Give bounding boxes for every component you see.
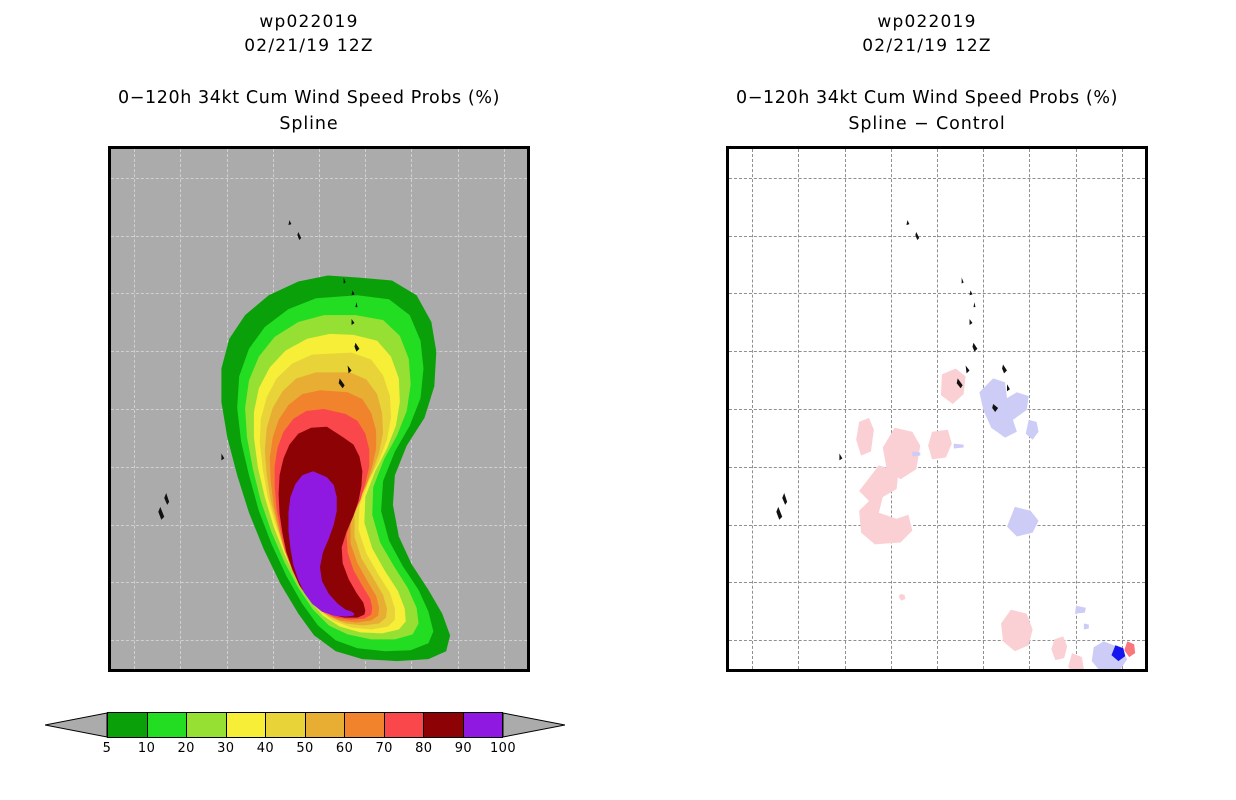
colorbar-segment bbox=[385, 713, 425, 737]
colorbar-tick-label: 5 bbox=[103, 741, 112, 756]
colorbar-left-ticklabels: 5102030405060708090100 bbox=[45, 741, 565, 763]
colorbar-segment bbox=[108, 713, 148, 737]
y-tick-mark bbox=[108, 581, 111, 583]
y-tick-mark bbox=[108, 524, 111, 526]
y-tick-mark bbox=[108, 408, 111, 410]
y-tick-mark bbox=[726, 177, 729, 179]
colorbar-left-under-cap bbox=[45, 712, 107, 738]
panel-spline: wp022019 02/21/19 12Z 0−120h 34kt Cum Wi… bbox=[0, 0, 618, 800]
x-tick-mark bbox=[134, 669, 136, 672]
y-tick-mark bbox=[108, 235, 111, 237]
x-tick-mark bbox=[891, 669, 893, 672]
colorbar-tick-label: 20 bbox=[178, 741, 195, 756]
y-tick-mark bbox=[108, 177, 111, 179]
colorbar-left-segments bbox=[107, 712, 503, 738]
colorbar-segment bbox=[227, 713, 267, 737]
y-tick-mark bbox=[108, 350, 111, 352]
axis-right: 132E135E138E141E144E147E150E153E156E30N2… bbox=[729, 149, 1145, 669]
x-tick-mark bbox=[937, 669, 939, 672]
y-tick-mark bbox=[108, 292, 111, 294]
colorbar-segment bbox=[424, 713, 464, 737]
colorbar-tick-label: 50 bbox=[296, 741, 313, 756]
panel-left-storm-id: wp022019 bbox=[0, 12, 618, 32]
x-tick-mark bbox=[273, 669, 275, 672]
x-tick-mark bbox=[504, 669, 506, 672]
x-tick-mark bbox=[983, 669, 985, 672]
panel-left-subtitle: Spline bbox=[0, 114, 618, 134]
colorbar-tick-label: 30 bbox=[217, 741, 234, 756]
y-tick-mark bbox=[726, 581, 729, 583]
x-tick-mark bbox=[1029, 669, 1031, 672]
colorbar-left-over-cap bbox=[503, 712, 565, 738]
y-tick-mark bbox=[726, 466, 729, 468]
x-tick-mark bbox=[319, 669, 321, 672]
x-tick-mark bbox=[798, 669, 800, 672]
x-tick-mark bbox=[1076, 669, 1078, 672]
x-tick-mark bbox=[458, 669, 460, 672]
colorbar-tick-label: 90 bbox=[455, 741, 472, 756]
x-tick-mark bbox=[752, 669, 754, 672]
panel-left-title: 0−120h 34kt Cum Wind Speed Probs (%) bbox=[0, 88, 618, 108]
y-tick-mark bbox=[726, 524, 729, 526]
colorbar-tick-label: 80 bbox=[415, 741, 432, 756]
colorbar-segment bbox=[187, 713, 227, 737]
x-tick-mark bbox=[1122, 669, 1124, 672]
colorbar-segment bbox=[306, 713, 346, 737]
panel-right-storm-id: wp022019 bbox=[618, 12, 1236, 32]
y-tick-mark bbox=[726, 235, 729, 237]
axis-left: 132E135E138E141E144E147E150E153E156E30N2… bbox=[111, 149, 527, 669]
x-tick-mark bbox=[227, 669, 229, 672]
panel-right-datetime: 02/21/19 12Z bbox=[618, 36, 1236, 56]
colorbar-tick-label: 70 bbox=[376, 741, 393, 756]
panel-right-title: 0−120h 34kt Cum Wind Speed Probs (%) bbox=[618, 88, 1236, 108]
figure-root: wp022019 02/21/19 12Z 0−120h 34kt Cum Wi… bbox=[0, 0, 1236, 800]
colorbar-tick-label: 40 bbox=[257, 741, 274, 756]
colorbar-tick-label: 10 bbox=[138, 741, 155, 756]
panel-right-subtitle: Spline − Control bbox=[618, 114, 1236, 134]
colorbar-segment bbox=[345, 713, 385, 737]
panel-spline-minus-control: wp022019 02/21/19 12Z 0−120h 34kt Cum Wi… bbox=[618, 0, 1236, 800]
colorbar-segment bbox=[464, 713, 503, 737]
y-tick-mark bbox=[726, 639, 729, 641]
map-plot-difference: 132E135E138E141E144E147E150E153E156E30N2… bbox=[726, 146, 1148, 672]
panel-left-datetime: 02/21/19 12Z bbox=[0, 36, 618, 56]
colorbar-segment bbox=[148, 713, 188, 737]
y-tick-mark bbox=[726, 350, 729, 352]
map-plot-spline: 132E135E138E141E144E147E150E153E156E30N2… bbox=[108, 146, 530, 672]
colorbar-tick-label: 100 bbox=[490, 741, 516, 756]
y-tick-mark bbox=[108, 639, 111, 641]
y-tick-mark bbox=[726, 292, 729, 294]
x-tick-mark bbox=[365, 669, 367, 672]
x-tick-mark bbox=[411, 669, 413, 672]
y-tick-mark bbox=[726, 408, 729, 410]
y-tick-mark bbox=[108, 466, 111, 468]
colorbar-probability: 5102030405060708090100 bbox=[45, 712, 565, 772]
x-tick-mark bbox=[180, 669, 182, 672]
colorbar-tick-label: 60 bbox=[336, 741, 353, 756]
colorbar-segment bbox=[266, 713, 306, 737]
x-tick-mark bbox=[845, 669, 847, 672]
